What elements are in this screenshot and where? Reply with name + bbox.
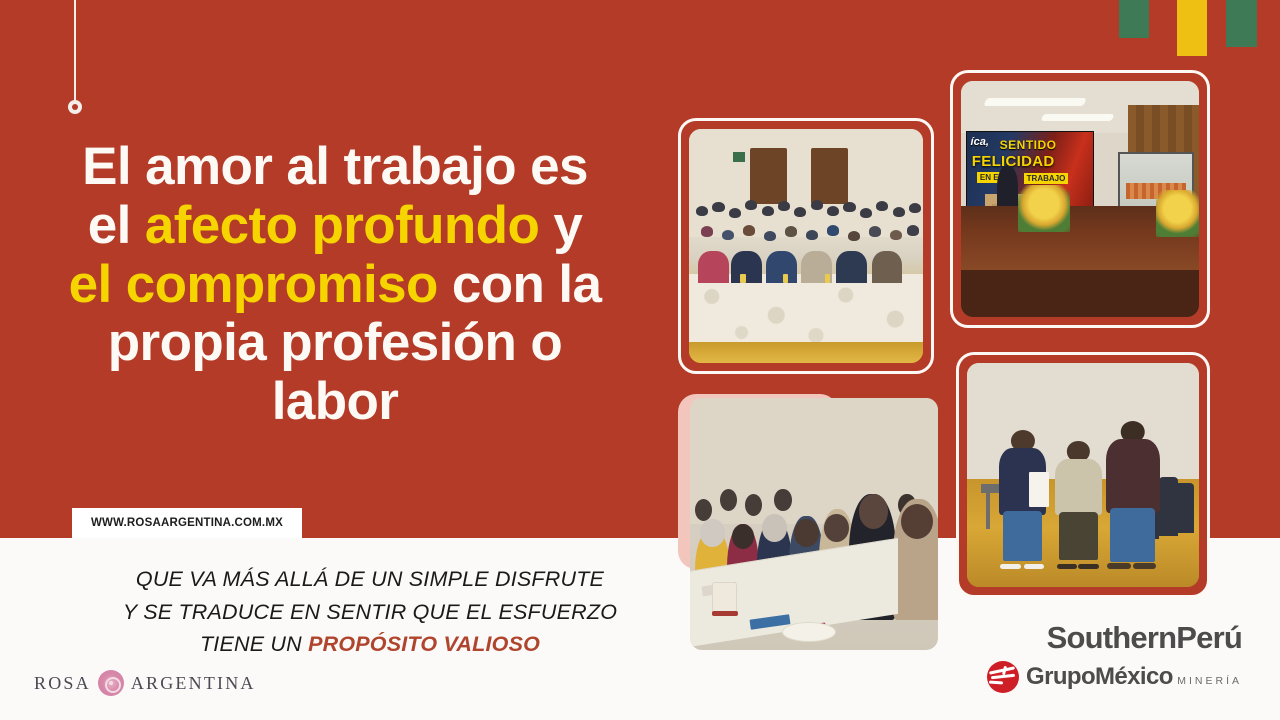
grupo-mexico-subtitle: MINERÍA (1177, 675, 1242, 687)
headline-line-3-suffix: con la (438, 255, 602, 314)
photo-stage-banner: íca, SENTIDO FELICIDAD EN EL TRABAJO (961, 81, 1199, 317)
grupo-mexico-icon (987, 661, 1019, 693)
grupo-mexico-name: GrupoMéxico (1026, 663, 1173, 690)
headline-line-2-suffix: y (539, 196, 582, 255)
subtext-line-3-prefix: TIENE UN (200, 632, 308, 656)
rosa-logo-word-rosa: ROSA (34, 673, 91, 694)
headline-line-4-text: propia profesión o (108, 313, 562, 372)
sponsor-logo: SouthernPerú GrupoMéxico MINERÍA (987, 622, 1242, 693)
headline: El amor al trabajo es el afecto profundo… (10, 138, 660, 432)
headline-line-4: propia profesión o (10, 314, 660, 373)
subtext-line-3: TIENE UN PROPÓSITO VALIOSO (50, 628, 690, 661)
green-bar-left-icon (1119, 0, 1149, 38)
rosa-argentina-logo: ROSA ARGENTINA (34, 670, 256, 696)
photo-stage-banner-frame: íca, SENTIDO FELICIDAD EN EL TRABAJO (950, 70, 1210, 328)
subtext-line-2: Y SE TRADUCE EN SENTIR QUE EL ESFUERZO (50, 596, 690, 629)
website-url-tag[interactable]: WWW.ROSAARGENTINA.COM.MX (72, 508, 302, 538)
grupo-mexico-text: GrupoMéxico MINERÍA (1026, 665, 1242, 689)
photo-group-discussion (967, 363, 1199, 587)
banner-word-5: TRABAJO (1024, 173, 1069, 184)
banner-word-2: SENTIDO (1000, 138, 1057, 152)
headline-line-2-prefix: el (88, 196, 145, 255)
subtext-line-2-text: Y SE TRADUCE EN SENTIR QUE EL ESFUERZO (123, 600, 617, 624)
rosa-logo-word-argentina: ARGENTINA (131, 673, 256, 694)
southern-peru-title: SouthernPerú (987, 622, 1242, 653)
headline-line-3: el compromiso con la (10, 256, 660, 315)
slide-canvas: El amor al trabajo es el afecto profundo… (0, 0, 1280, 720)
headline-line-5-text: labor (272, 372, 399, 431)
headline-line-5: labor (10, 373, 660, 432)
subtext-line-1-text: QUE VA MÁS ALLÁ DE UN SIMPLE DISFRUTE (136, 567, 604, 591)
headline-line-1-text: El amor al trabajo es (82, 137, 588, 196)
subtext-block: QUE VA MÁS ALLÁ DE UN SIMPLE DISFRUTE Y … (50, 563, 690, 661)
photo-attendees-profile (690, 398, 938, 650)
photo-group-discussion-frame (956, 352, 1210, 598)
grupo-mexico-row: GrupoMéxico MINERÍA (987, 661, 1242, 693)
headline-line-2: el afecto profundo y (10, 197, 660, 256)
website-url-text: WWW.ROSAARGENTINA.COM.MX (91, 517, 283, 529)
banner-word-1: íca, (971, 136, 989, 148)
photo-audience-tables-frame (678, 118, 934, 374)
photo-audience-tables (689, 129, 923, 363)
green-bar-right-icon (1226, 0, 1257, 47)
subtext-accent-proposito: PROPÓSITO VALIOSO (308, 632, 540, 656)
headline-highlight-afecto: afecto profundo (145, 196, 539, 255)
subtext-line-1: QUE VA MÁS ALLÁ DE UN SIMPLE DISFRUTE (50, 563, 690, 596)
headline-highlight-compromiso: el compromiso (69, 255, 438, 314)
rose-icon (98, 670, 124, 696)
yellow-bar-icon (1177, 0, 1207, 56)
photo-attendees-profile-frame (690, 398, 938, 650)
headline-line-1: El amor al trabajo es (10, 138, 660, 197)
vertical-accent-line (74, 0, 76, 106)
accent-dot-icon (68, 100, 82, 114)
